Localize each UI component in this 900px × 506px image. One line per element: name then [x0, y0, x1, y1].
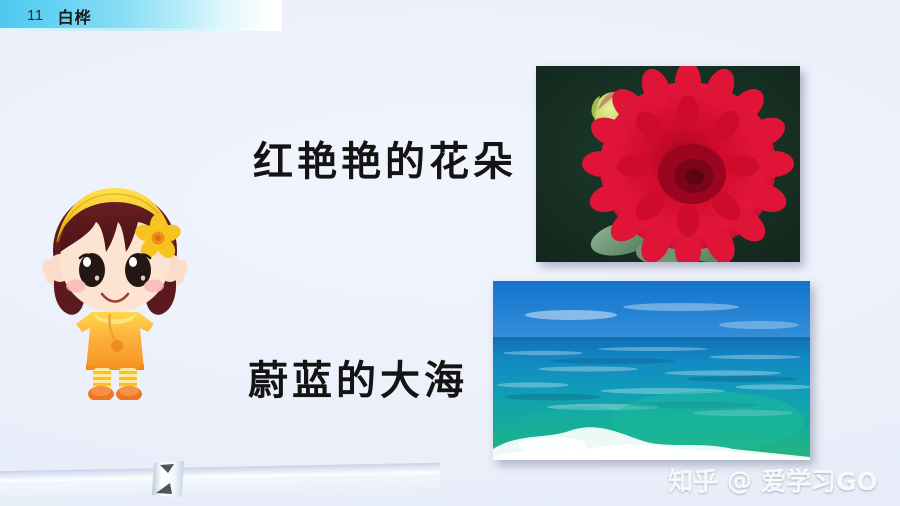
ribbon-clip-icon: [140, 459, 196, 499]
flower-photo: [536, 66, 800, 262]
header: 11 白桦: [0, 0, 282, 31]
cartoon-girl-illustration: [30, 172, 200, 400]
sea-photo: [493, 281, 810, 460]
page-title: 白桦: [58, 4, 92, 28]
cartoon-girl-graphic: [30, 172, 200, 400]
phrase-blue-sea: 蔚蓝的大海: [248, 348, 468, 406]
lesson-number: 11: [27, 7, 44, 24]
sea-photo-graphic: [493, 281, 810, 460]
slide-canvas: 11 白桦 红艳艳的花朵 蔚蓝的大海: [0, 0, 900, 506]
bottom-ribbon-decoration: [0, 462, 440, 492]
flower-photo-graphic: [536, 66, 800, 262]
phrase-red-flowers: 红艳艳的花朵: [253, 129, 517, 187]
